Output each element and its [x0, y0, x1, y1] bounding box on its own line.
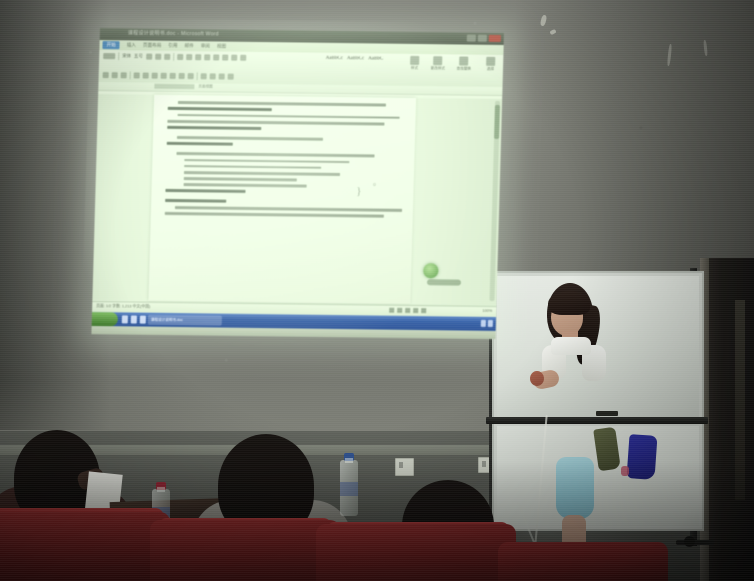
- line-spacing-icon[interactable]: [222, 55, 228, 61]
- system-tray[interactable]: [481, 320, 493, 327]
- maximize-icon[interactable]: [478, 35, 487, 42]
- tab-page-layout[interactable]: 页面布局: [143, 43, 162, 49]
- zoom-level[interactable]: 100%: [482, 309, 492, 313]
- full-screen-reading-icon[interactable]: [397, 308, 402, 313]
- wall-shadow-left: [0, 0, 110, 430]
- auditorium-seat[interactable]: [150, 520, 340, 581]
- align-left-icon[interactable]: [195, 54, 201, 60]
- window-controls[interactable]: [467, 35, 501, 42]
- door-glass-panel: [735, 300, 745, 500]
- ribbon-separator: [118, 52, 119, 60]
- print-layout-icon[interactable]: [389, 308, 394, 313]
- style-heading-1[interactable]: AaBbC: [368, 56, 383, 61]
- bottle-neck: [345, 458, 353, 463]
- paste-icon[interactable]: [103, 53, 115, 59]
- outline-icon[interactable]: [413, 308, 418, 313]
- increase-indent-icon[interactable]: [210, 73, 216, 79]
- auditorium-seat[interactable]: [316, 524, 516, 581]
- strikethrough-icon[interactable]: [152, 73, 158, 79]
- presenter-teacher[interactable]: [524, 283, 634, 573]
- tab-review[interactable]: 审阅: [201, 43, 210, 49]
- font-color-icon[interactable]: [188, 73, 194, 79]
- word-document-title: 课程设计说明书.doc - Microsoft Word: [128, 29, 219, 37]
- scrollbar-thumb[interactable]: [494, 105, 500, 139]
- whiteboard-caster: [684, 536, 695, 547]
- sort-icon[interactable]: [219, 74, 225, 80]
- hair-front: [548, 291, 590, 315]
- format-painter-icon[interactable]: [121, 72, 127, 78]
- borders-icon[interactable]: [240, 55, 246, 61]
- wall-socket-left: [395, 458, 414, 476]
- copy-icon[interactable]: [112, 72, 118, 78]
- style-gallery[interactable]: AaBbCc AaBbCc AaBbC: [326, 56, 384, 62]
- styles-button[interactable]: 样式: [410, 56, 419, 71]
- taskbar-item-word[interactable]: 课程设计说明书.doc: [148, 315, 222, 326]
- ribbon-separator: [130, 71, 131, 79]
- whiteboard-foot-right: [676, 540, 714, 545]
- font-size-box[interactable]: 五号: [134, 53, 143, 59]
- align-center-icon[interactable]: [204, 54, 210, 60]
- minimize-icon[interactable]: [467, 35, 476, 42]
- italic-icon[interactable]: [155, 54, 161, 60]
- ruler-indent-marker[interactable]: [154, 84, 194, 90]
- style-no-space[interactable]: AaBbCc: [347, 56, 364, 61]
- change-styles-icon: [433, 56, 442, 65]
- shrink-font-icon[interactable]: [143, 73, 149, 79]
- select-button[interactable]: 选择: [486, 57, 495, 72]
- annotation-mark: º: [373, 183, 376, 190]
- classroom-photo: 课程设计说明书.doc - Microsoft Word 开始 插入 页面布局 …: [0, 0, 754, 581]
- word-document-page[interactable]: } º: [148, 95, 416, 304]
- taskbar-item-label: 课程设计说明书.doc: [151, 317, 183, 322]
- quick-launch-bar[interactable]: [122, 315, 146, 323]
- align-right-icon[interactable]: [213, 54, 219, 60]
- ribbon-separator: [197, 72, 198, 80]
- cut-icon[interactable]: [103, 72, 109, 78]
- subscript-icon[interactable]: [161, 73, 167, 79]
- text-highlight-icon[interactable]: [179, 73, 185, 79]
- show-marks-icon[interactable]: [228, 74, 234, 80]
- status-page-word-count: 页面: 1/2 字数: 1,213 中文(中国): [96, 304, 150, 310]
- auditorium-seat[interactable]: [0, 512, 170, 581]
- media-player-icon[interactable]: [140, 316, 146, 324]
- shading-icon[interactable]: [231, 55, 237, 61]
- hand-with-clicker[interactable]: [530, 371, 544, 386]
- ruler-label: 页面视图: [198, 84, 213, 89]
- document-text-block: [165, 101, 404, 221]
- network-icon[interactable]: [488, 320, 493, 327]
- tab-references[interactable]: 引用: [168, 43, 177, 49]
- view-mode-buttons[interactable]: [389, 308, 426, 313]
- projected-screen[interactable]: 课程设计说明书.doc - Microsoft Word 开始 插入 页面布局 …: [91, 28, 504, 339]
- auditorium-seat[interactable]: [498, 542, 668, 581]
- select-icon: [486, 57, 495, 66]
- floral-dress: [544, 351, 606, 463]
- numbered-list-icon[interactable]: [186, 54, 192, 60]
- select-label: 选择: [487, 67, 494, 72]
- bottle-label: [340, 482, 358, 495]
- close-icon[interactable]: [489, 35, 501, 42]
- bold-icon[interactable]: [146, 54, 152, 60]
- bullet-list-icon[interactable]: [177, 54, 183, 60]
- font-name-box[interactable]: 宋体: [122, 53, 131, 59]
- find-replace-label: 查找替换: [457, 66, 472, 71]
- change-styles-label: 更改样式: [431, 66, 446, 71]
- page-margin-left: [92, 94, 154, 301]
- change-styles-button[interactable]: 更改样式: [431, 56, 446, 71]
- superscript-icon[interactable]: [170, 73, 176, 79]
- tooltip-button[interactable]: [427, 279, 461, 285]
- tab-insert[interactable]: 插入: [127, 42, 136, 48]
- underline-icon[interactable]: [164, 54, 170, 60]
- decrease-indent-icon[interactable]: [201, 73, 207, 79]
- water-bottle-far[interactable]: [340, 460, 358, 516]
- show-desktop-icon[interactable]: [131, 315, 137, 323]
- style-normal[interactable]: AaBbCc: [326, 56, 343, 61]
- annotation-brace: }: [356, 185, 362, 197]
- ribbon-separator: [173, 53, 174, 61]
- ie-icon[interactable]: [122, 315, 128, 323]
- web-layout-icon[interactable]: [405, 308, 410, 313]
- volume-icon[interactable]: [481, 320, 486, 327]
- floating-tooltip[interactable]: [423, 262, 468, 287]
- capri-pants: [556, 457, 594, 519]
- tab-view[interactable]: 视图: [217, 43, 226, 49]
- grow-font-icon[interactable]: [134, 72, 140, 78]
- green-circle-icon: [423, 263, 438, 278]
- tab-mailings[interactable]: 邮件: [184, 43, 193, 49]
- styles-button-label: 样式: [411, 66, 418, 71]
- find-replace-button[interactable]: 查找替换: [457, 56, 472, 71]
- draft-icon[interactable]: [421, 308, 426, 313]
- start-button[interactable]: [92, 312, 118, 326]
- bottle-neck: [157, 487, 165, 492]
- styles-icon: [410, 56, 419, 65]
- find-replace-icon: [459, 57, 468, 66]
- tab-home[interactable]: 开始: [102, 41, 119, 49]
